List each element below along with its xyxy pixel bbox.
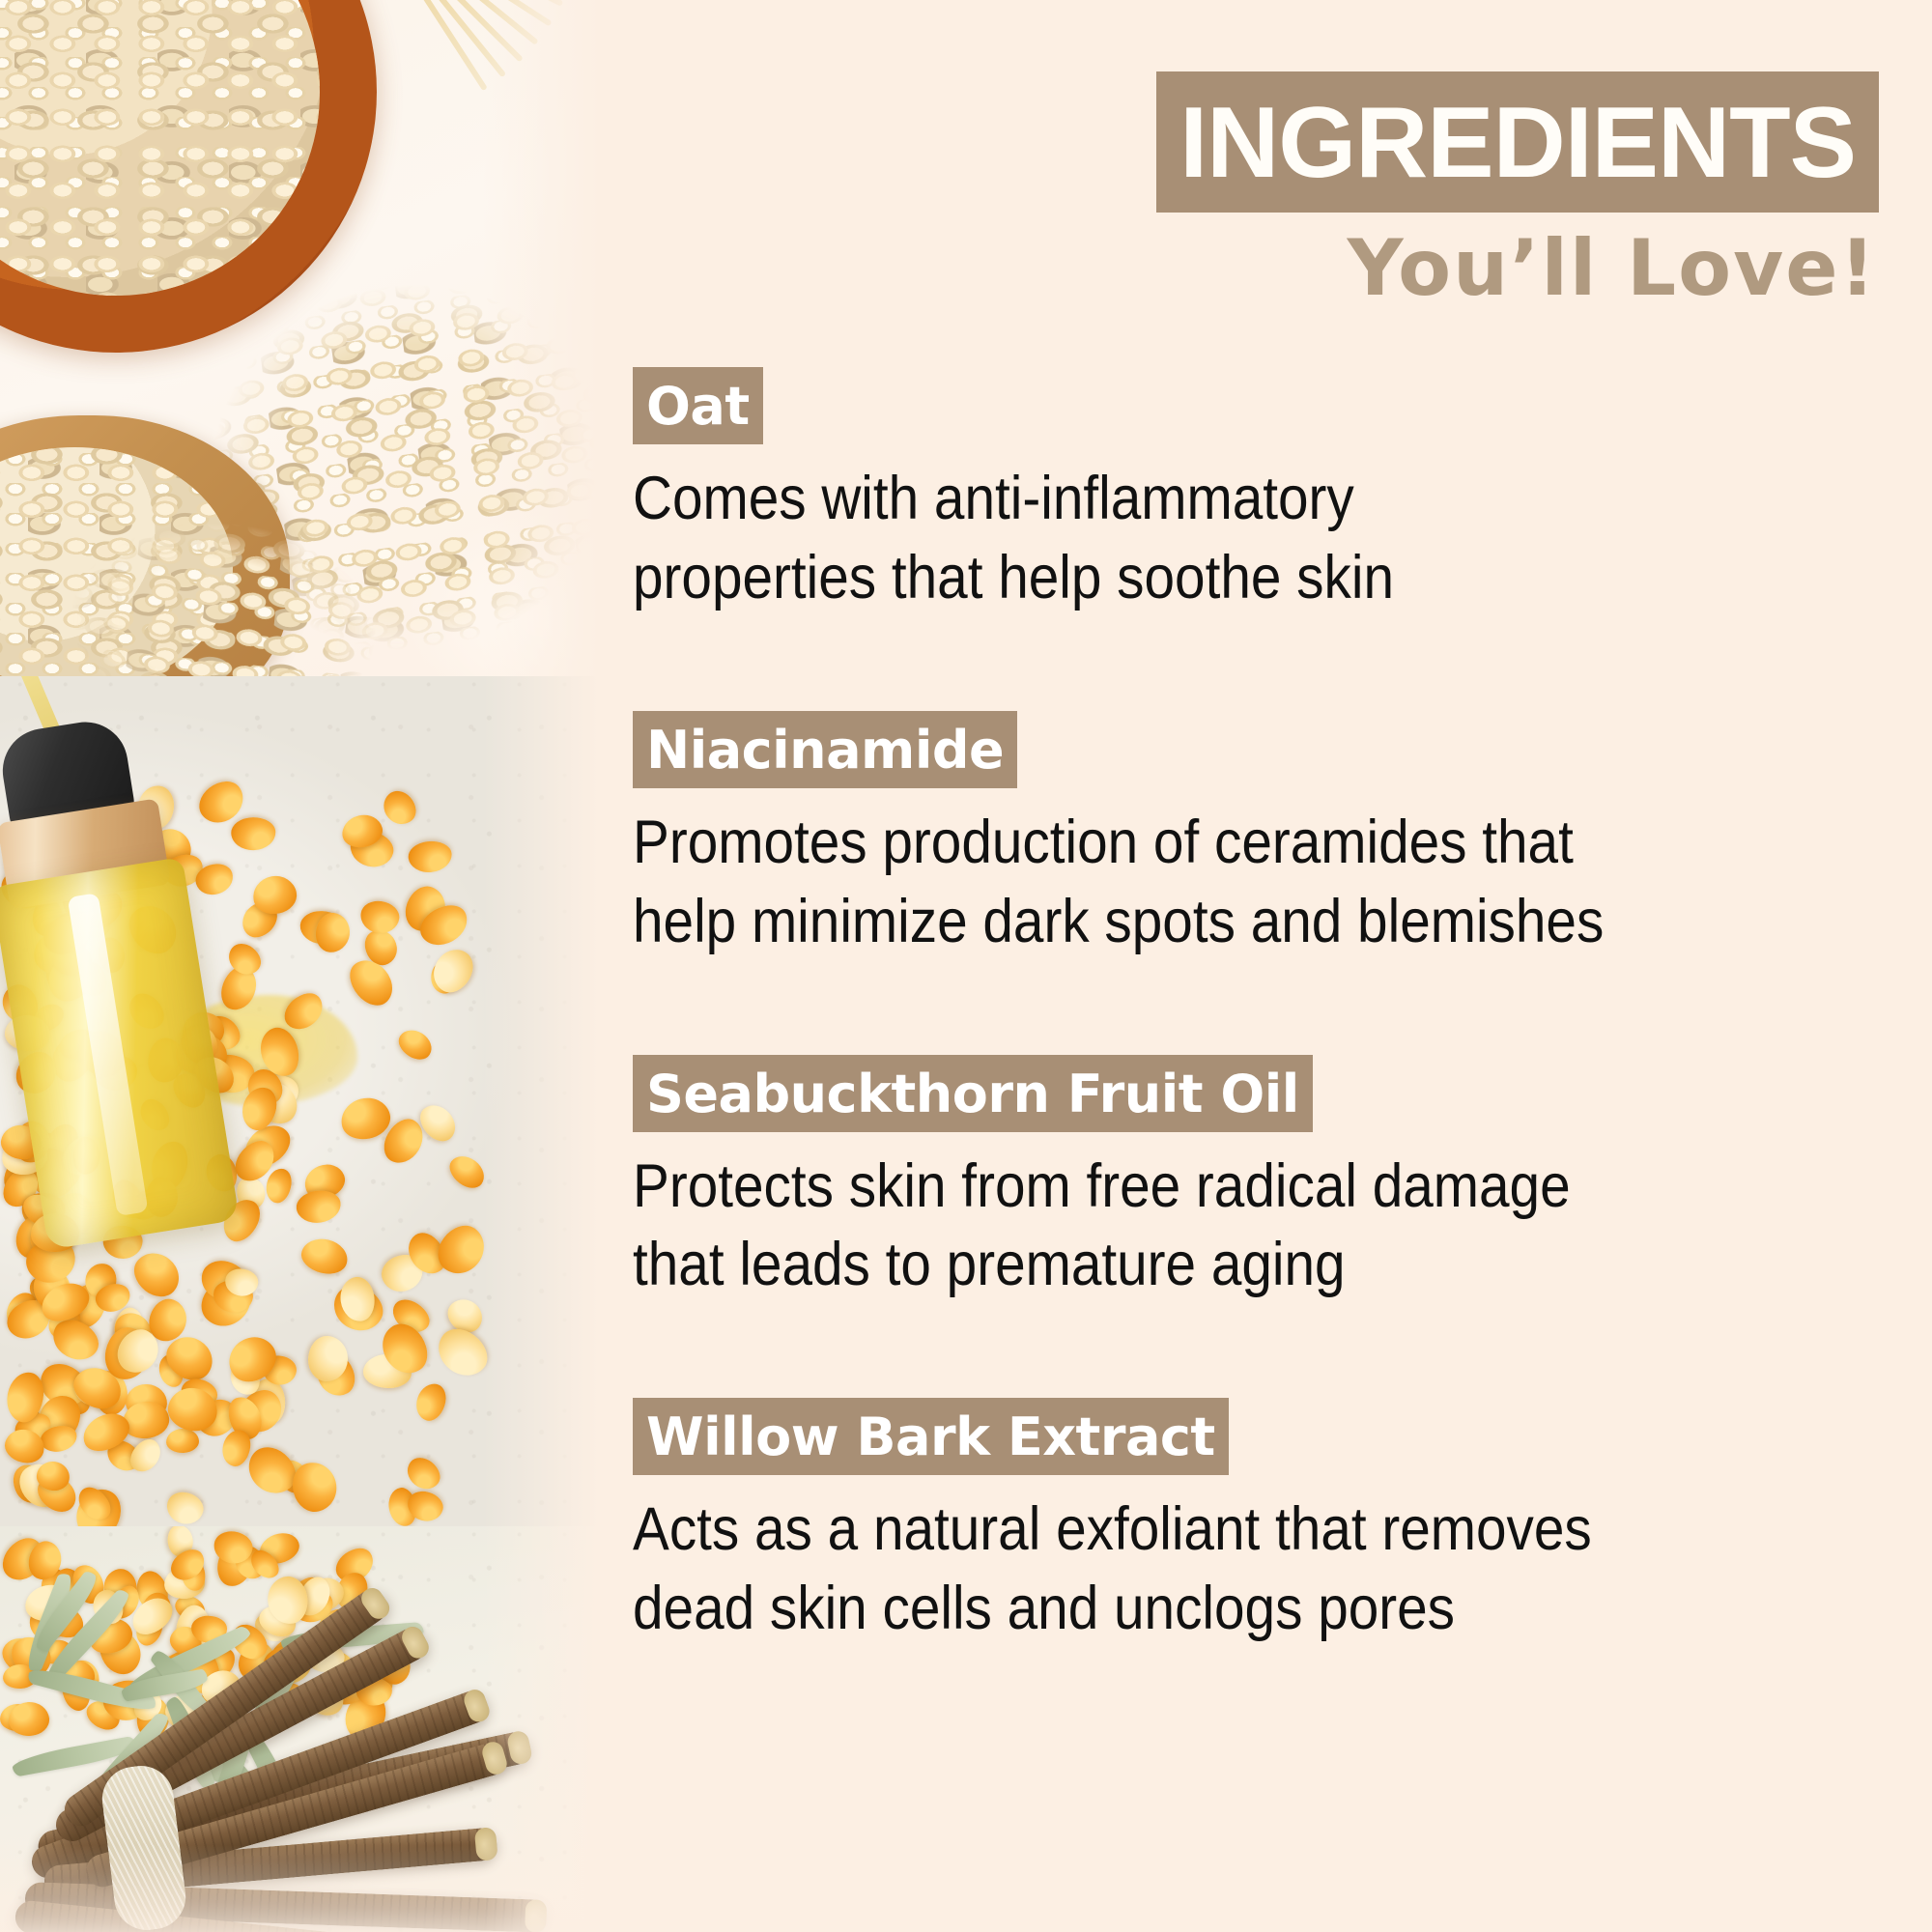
willow-bark-photo <box>0 1526 599 1932</box>
ingredients-infographic: INGREDIENTS You’ll Love! Oat Comes with … <box>0 0 1932 1932</box>
ingredient-list: Oat Comes with anti-inflammatory propert… <box>633 367 1879 1649</box>
berry <box>231 816 276 851</box>
berry <box>412 1380 451 1425</box>
ingredient-description: Comes with anti-inflammatory properties … <box>633 460 1878 618</box>
berry <box>165 1428 199 1454</box>
bowl-oats <box>0 0 320 296</box>
berry <box>444 1150 491 1194</box>
ingredient-description: Promotes production of ceramides that he… <box>633 804 1878 962</box>
oats-photo <box>0 0 599 676</box>
ingredient-label: Oat <box>633 367 763 444</box>
ingredient-item-willow-bark-extract: Willow Bark Extract Acts as a natural ex… <box>633 1398 1879 1649</box>
berry <box>430 1321 497 1385</box>
header: INGREDIENTS You’ll Love! <box>633 71 1879 307</box>
berry <box>393 1024 437 1065</box>
ingredient-label: Seabuckthorn Fruit Oil <box>633 1055 1313 1132</box>
page-title: INGREDIENTS <box>1156 71 1879 213</box>
berry <box>401 1451 445 1494</box>
berry <box>358 898 402 935</box>
berry <box>378 785 423 831</box>
berry <box>429 1217 493 1283</box>
ingredient-label: Niacinamide <box>633 711 1017 788</box>
ingredient-description: Protects skin from free radical damage t… <box>633 1148 1878 1306</box>
berry <box>407 839 453 875</box>
ingredient-label: Willow Bark Extract <box>633 1398 1229 1475</box>
berry <box>163 1488 207 1526</box>
bark-sticks <box>0 1526 599 1932</box>
berry <box>278 986 329 1037</box>
berry <box>426 943 480 1000</box>
ingredient-item-niacinamide: Niacinamide Promotes production of ceram… <box>633 711 1879 962</box>
berry <box>264 1166 296 1205</box>
content-column: INGREDIENTS You’ll Love! Oat Comes with … <box>633 0 1879 1932</box>
ingredient-item-oat: Oat Comes with anti-inflammatory propert… <box>633 367 1879 618</box>
page-subtitle: You’ll Love! <box>633 230 1877 307</box>
seabuckthorn-photo <box>0 676 599 1526</box>
oat-flake-texture <box>0 0 320 296</box>
ingredient-item-seabuckthorn-fruit-oil: Seabuckthorn Fruit Oil Protects skin fro… <box>633 1055 1879 1306</box>
photo-column <box>0 0 599 1932</box>
ingredient-description: Acts as a natural exfoliant that removes… <box>633 1491 1878 1649</box>
berry <box>298 1234 352 1277</box>
